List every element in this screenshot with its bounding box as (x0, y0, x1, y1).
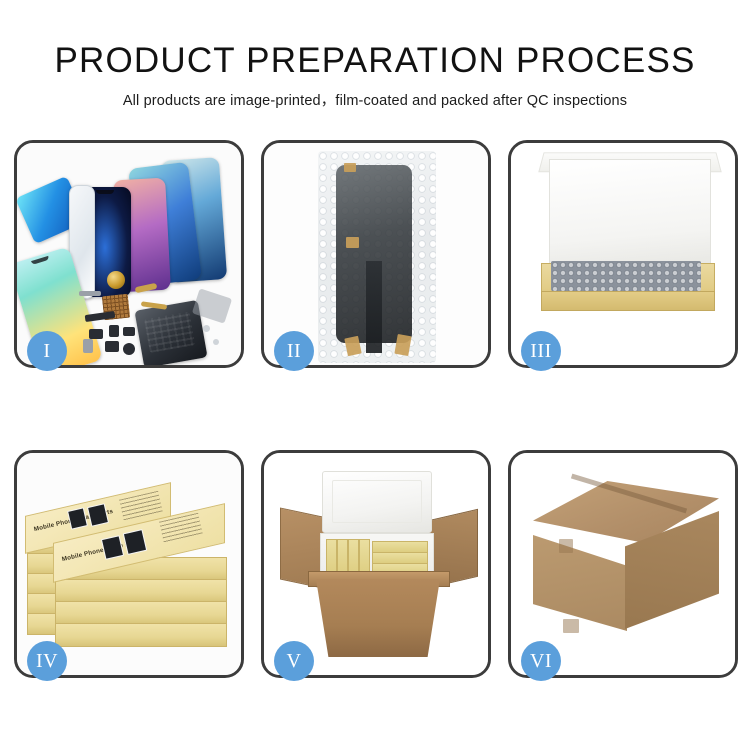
retail-box-layer (55, 579, 227, 603)
phone-notch-icon (31, 256, 49, 265)
screen-flex-cable-icon (366, 261, 382, 353)
screw-icon (203, 325, 210, 332)
retail-box-layer (55, 623, 227, 647)
foam-sheet-icon (549, 159, 711, 265)
carton-body-icon (316, 579, 440, 657)
page-subtitle: All products are image-printed，film-coat… (0, 91, 750, 111)
process-step-card-1: I (14, 140, 244, 368)
step-badge-5: V (274, 641, 314, 681)
process-step-card-3: III (508, 140, 738, 368)
tape-icon (346, 237, 359, 248)
screw-icon (213, 339, 219, 345)
header: PRODUCT PREPARATION PROCESS All products… (0, 40, 750, 111)
tape-icon (344, 163, 356, 172)
process-step-card-4: Mobile Phone Spare Parts Mobile Phone Sp… (14, 450, 244, 678)
phone-notch-icon (96, 190, 114, 194)
shipping-carton-left-face-icon (533, 535, 627, 631)
retail-box-stack-icon: Mobile Phone Spare Parts Mobile Phone Sp… (25, 475, 233, 659)
carton-tape-icon (563, 619, 579, 633)
retail-box-layer (55, 601, 227, 625)
process-step-card-5: V (261, 450, 491, 678)
inner-box-front-edge-icon (541, 291, 715, 311)
speaker-module-icon (123, 343, 135, 355)
spare-part-icon (83, 339, 93, 353)
spare-part-icon (105, 341, 119, 352)
step-badge-6: VI (521, 641, 561, 681)
carton-tape-icon (559, 539, 573, 553)
spare-part-icon (89, 329, 103, 339)
spare-part-icon (109, 325, 119, 337)
process-step-card-2: II (261, 140, 491, 368)
process-step-card-6: VI (508, 450, 738, 678)
process-step-grid: I II (14, 140, 738, 680)
spare-part-icon (85, 311, 116, 322)
bubble-wrapped-contents-icon (551, 261, 701, 291)
step-badge-2: II (274, 331, 314, 371)
step-badge-3: III (521, 331, 561, 371)
spare-part-icon (79, 291, 101, 296)
styrofoam-lid-icon (322, 471, 432, 533)
step-badge-1: I (27, 331, 67, 371)
bubble-wrap-bag-icon (318, 151, 436, 363)
spare-part-icon (123, 327, 135, 336)
step-badge-4: IV (27, 641, 67, 681)
vibration-motor-icon (107, 271, 125, 289)
product-preparation-infographic: PRODUCT PREPARATION PROCESS All products… (0, 0, 750, 750)
page-title: PRODUCT PREPARATION PROCESS (0, 40, 750, 82)
tape-icon (394, 334, 411, 356)
